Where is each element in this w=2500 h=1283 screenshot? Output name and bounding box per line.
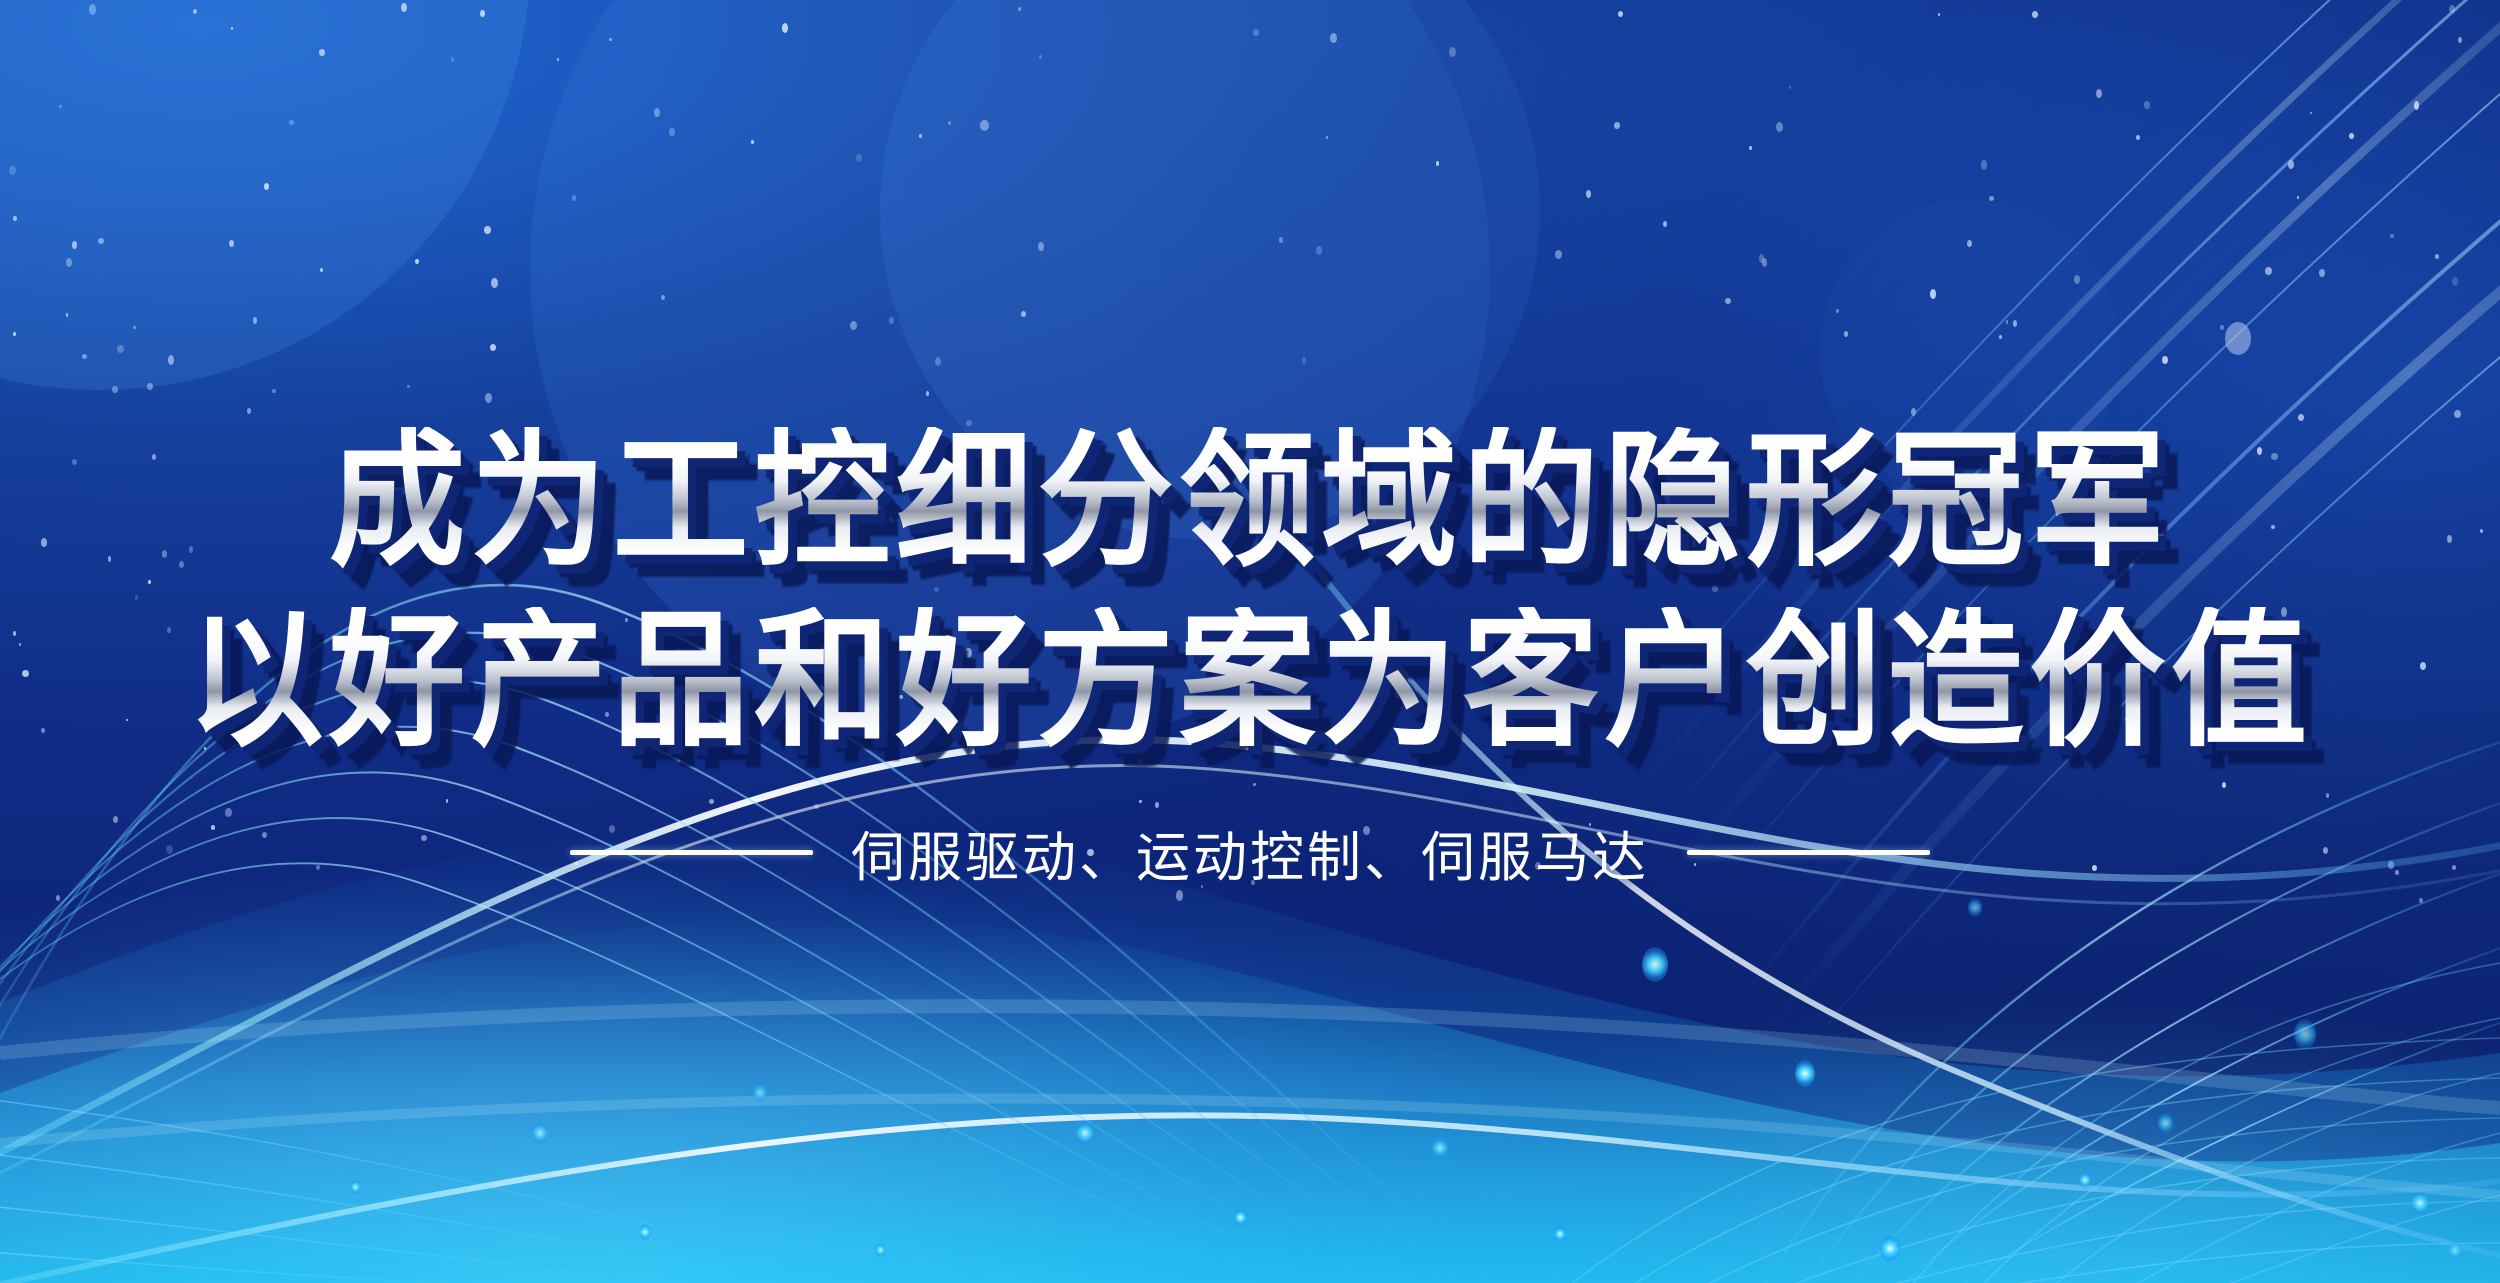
right-rule-decoration <box>1687 850 1930 855</box>
banner-subtitle: 伺服驱动、运动控制、伺服马达 <box>851 813 1649 892</box>
left-rule-decoration <box>570 850 813 855</box>
headline-line-2: 以好产品和好方案为客户创造价值 <box>187 607 2312 755</box>
headline-line-1: 成为工控细分领域的隐形冠军 <box>329 427 2171 575</box>
banner-content: 成为工控细分领域的隐形冠军 以好产品和好方案为客户创造价值 伺服驱动、运动控制、… <box>0 0 2500 1283</box>
subtitle-row: 伺服驱动、运动控制、伺服马达 <box>570 813 1930 892</box>
hero-banner: 成为工控细分领域的隐形冠军 以好产品和好方案为客户创造价值 伺服驱动、运动控制、… <box>0 0 2500 1283</box>
